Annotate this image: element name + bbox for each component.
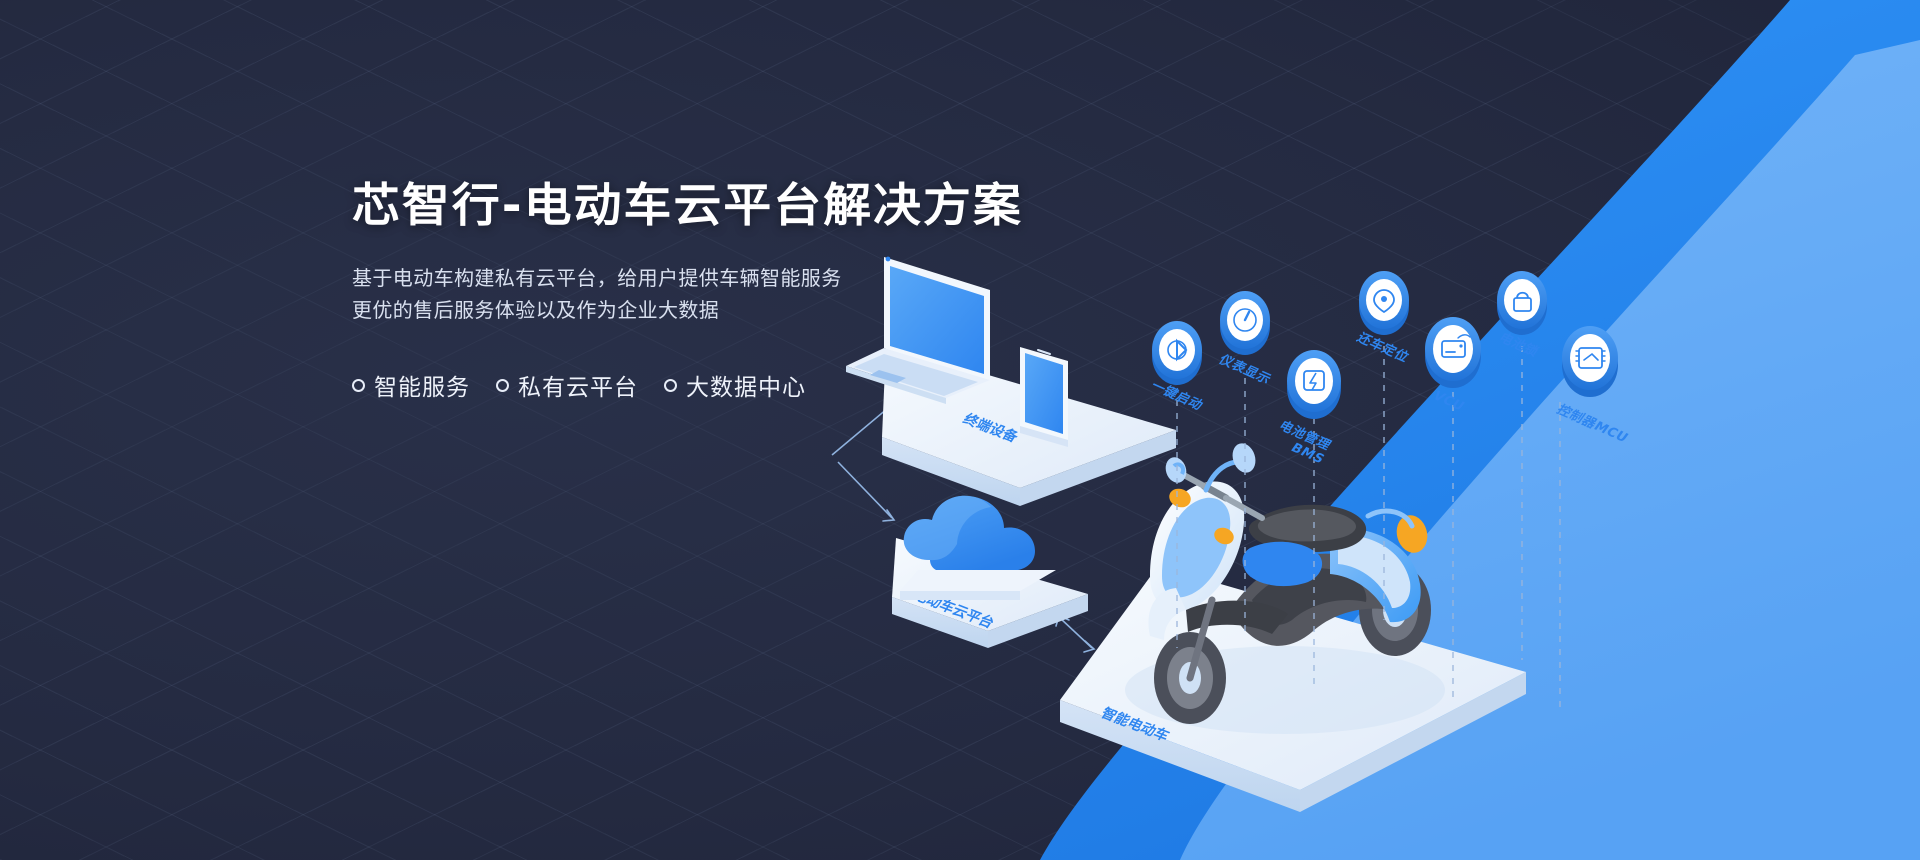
feature-label: 智能服务 [374, 368, 470, 402]
feature-item-smart-service[interactable]: 智能服务 [352, 368, 470, 402]
feature-item-private-cloud[interactable]: 私有云平台 [496, 368, 638, 402]
hero-subtitle: 基于电动车构建私有云平台，给用户提供车辆智能服务 更优的售后服务体验以及作为企业… [352, 262, 1072, 327]
hero-banner: 终端设备 [0, 0, 1920, 860]
feature-label: 大数据中心 [686, 368, 806, 402]
circle-outline-icon [352, 379, 365, 392]
page-title: 芯智行-电动车云平台解决方案 [352, 180, 1101, 232]
circle-outline-icon [496, 379, 509, 392]
subtitle-line-2: 更优的售后服务体验以及作为企业大数据 [352, 294, 1072, 326]
feature-list: 智能服务 私有云平台 大数据中心 [352, 368, 1072, 402]
blue-wave-decoration [0, 0, 1920, 860]
circle-outline-icon [664, 379, 677, 392]
hero-copy: 芯智行-电动车云平台解决方案 基于电动车构建私有云平台，给用户提供车辆智能服务 … [352, 180, 1072, 402]
subtitle-line-1: 基于电动车构建私有云平台，给用户提供车辆智能服务 [352, 262, 1072, 294]
feature-label: 私有云平台 [518, 368, 638, 402]
wave-light-path [1180, 40, 1920, 860]
feature-item-big-data-center[interactable]: 大数据中心 [664, 368, 806, 402]
